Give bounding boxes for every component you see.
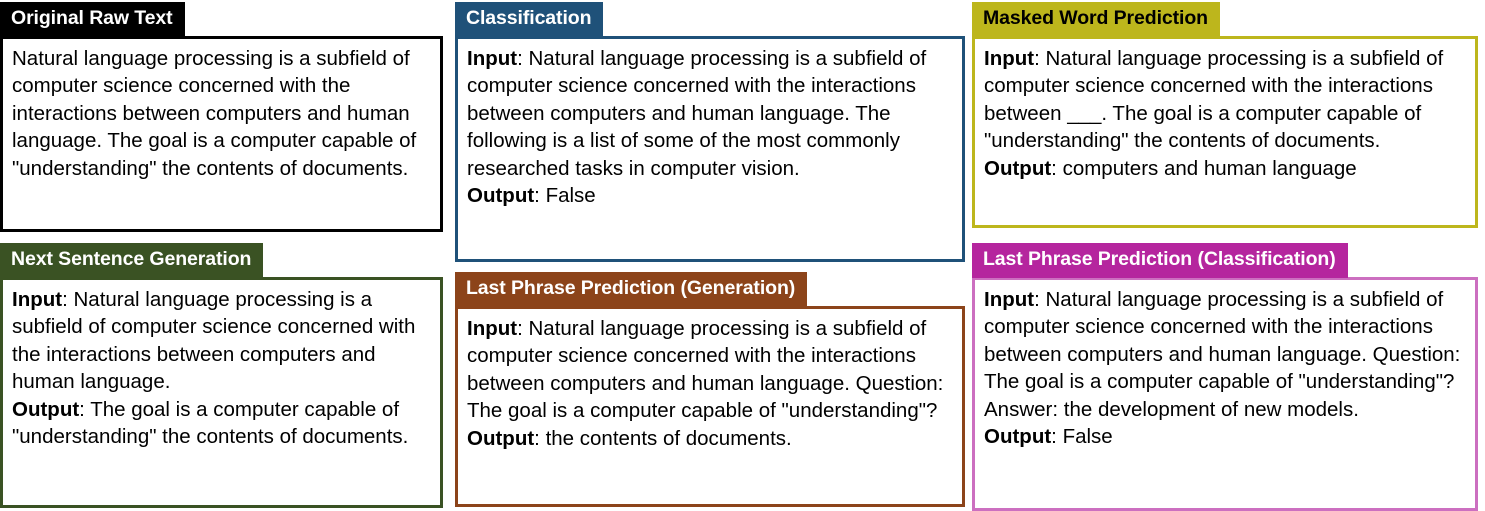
panel-next-sentence-generation: Next Sentence Generation Input: Natural … <box>0 243 443 508</box>
input-text: Natural language processing is a subfiel… <box>467 47 926 180</box>
output-line: Output: the contents of documents. <box>467 425 954 453</box>
input-label: Input <box>984 47 1034 70</box>
colon-separator: : <box>62 288 73 311</box>
input-line: Input: Natural language processing is a … <box>984 286 1467 424</box>
output-text: computers and human language <box>1063 157 1357 180</box>
colon-separator: : <box>517 317 528 340</box>
panel-title-last-phrase-prediction-classification: Last Phrase Prediction (Classification) <box>972 243 1348 278</box>
panel-original-raw-text: Original Raw Text Natural language proce… <box>0 2 443 232</box>
output-label: Output <box>12 398 79 421</box>
output-text: False <box>546 184 596 207</box>
input-line: Input: Natural language processing is a … <box>467 45 954 183</box>
output-label: Output <box>467 427 534 450</box>
input-label: Input <box>467 47 517 70</box>
output-text: the contents of documents. <box>546 427 792 450</box>
output-line: Output: False <box>467 182 954 210</box>
colon-separator: : <box>1051 425 1062 448</box>
panel-title-classification: Classification <box>455 2 603 37</box>
figure-canvas: Original Raw Text Natural language proce… <box>0 0 1485 509</box>
colon-separator: : <box>1051 157 1062 180</box>
panel-last-phrase-prediction-classification: Last Phrase Prediction (Classification) … <box>972 243 1478 511</box>
input-label: Input <box>984 288 1034 311</box>
panel-body-original-raw-text: Natural language processing is a subfiel… <box>0 36 443 232</box>
panel-body-next-sentence-generation: Input: Natural language processing is a … <box>0 277 443 508</box>
colon-separator: : <box>1034 47 1045 70</box>
input-line: Input: Natural language processing is a … <box>984 45 1467 155</box>
colon-separator: : <box>517 47 528 70</box>
input-text: Natural language processing is a subfiel… <box>984 47 1443 153</box>
input-line: Input: Natural language processing is a … <box>12 286 432 396</box>
panel-body-classification: Input: Natural language processing is a … <box>455 36 965 262</box>
colon-separator: : <box>534 184 545 207</box>
panel-body-masked-word-prediction: Input: Natural language processing is a … <box>972 36 1478 228</box>
colon-separator: : <box>1034 288 1045 311</box>
panel-body-last-phrase-prediction-classification: Input: Natural language processing is a … <box>972 277 1478 511</box>
panel-body-last-phrase-prediction-generation: Input: Natural language processing is a … <box>455 306 965 507</box>
output-line: Output: False <box>984 423 1467 451</box>
output-label: Output <box>984 425 1051 448</box>
panel-last-phrase-prediction-generation: Last Phrase Prediction (Generation) Inpu… <box>455 272 965 507</box>
input-text: Natural language processing is a subfiel… <box>984 288 1460 421</box>
input-line: Input: Natural language processing is a … <box>467 315 954 425</box>
output-label: Output <box>467 184 534 207</box>
panel-title-original-raw-text: Original Raw Text <box>0 2 185 37</box>
output-line: Output: computers and human language <box>984 155 1467 183</box>
panel-title-next-sentence-generation: Next Sentence Generation <box>0 243 263 278</box>
panel-masked-word-prediction: Masked Word Prediction Input: Natural la… <box>972 2 1478 228</box>
input-text: Natural language processing is a subfiel… <box>467 317 943 423</box>
colon-separator: : <box>534 427 545 450</box>
panel-classification: Classification Input: Natural language p… <box>455 2 965 262</box>
panel-title-last-phrase-prediction-generation: Last Phrase Prediction (Generation) <box>455 272 807 307</box>
input-label: Input <box>467 317 517 340</box>
output-label: Output <box>984 157 1051 180</box>
output-line: Output: The goal is a computer capable o… <box>12 396 432 451</box>
panel-title-masked-word-prediction: Masked Word Prediction <box>972 2 1220 37</box>
output-text: False <box>1063 425 1113 448</box>
input-label: Input <box>12 288 62 311</box>
raw-text-paragraph: Natural language processing is a subfiel… <box>12 45 432 183</box>
colon-separator: : <box>79 398 90 421</box>
